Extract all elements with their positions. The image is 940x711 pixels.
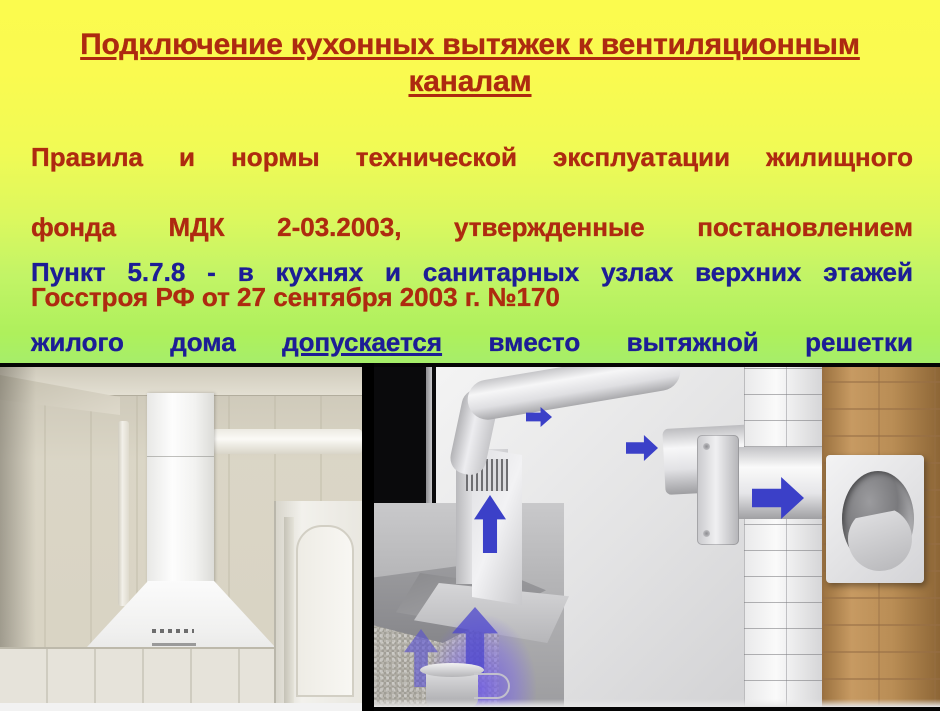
cabinet-door-panel [296,525,354,697]
kitchen-hood-photo [0,367,362,703]
horizontal-duct-pipe [212,429,362,454]
wall-edge [426,367,432,517]
slide-text-panel: Подключение кухонных вытяжек к вентиляци… [0,0,940,363]
vertical-duct-pipe [118,421,129,606]
clause-paragraph: Пункт 5.7.8 - в кухнях и санитарных узла… [31,255,913,363]
clause-line-2: жилого дома допускается вместо вытяжной … [31,325,913,363]
hood-chimney [147,393,214,583]
presentation-slide: Подключение кухонных вытяжек к вентиляци… [0,0,940,711]
hood-brand-label [152,643,196,646]
regulation-line-1: Правила и нормы технической эксплуатации… [31,140,913,210]
clause-emphasis: допускается [282,327,442,357]
white-brick-wall [744,367,824,707]
image-bottom-edge [374,699,940,707]
duct-diagram-image [374,367,940,707]
clause-line-1: Пункт 5.7.8 - в кухнях и санитарных узла… [31,255,913,325]
duct-flange [697,435,739,545]
pot-handle [474,673,510,699]
slide-image-strip [0,363,940,711]
cabinet-edge [284,517,294,703]
kitchen-cabinet [274,501,362,703]
page-title: Подключение кухонных вытяжек к вентиляци… [22,26,918,100]
clause-line-2-before: жилого дома [31,327,282,357]
photo-divider [362,363,374,711]
left-photo-bottom-edge [0,703,362,711]
clause-line-2-after: вместо вытяжной решетки [442,327,913,357]
hood-control-buttons [152,629,194,633]
